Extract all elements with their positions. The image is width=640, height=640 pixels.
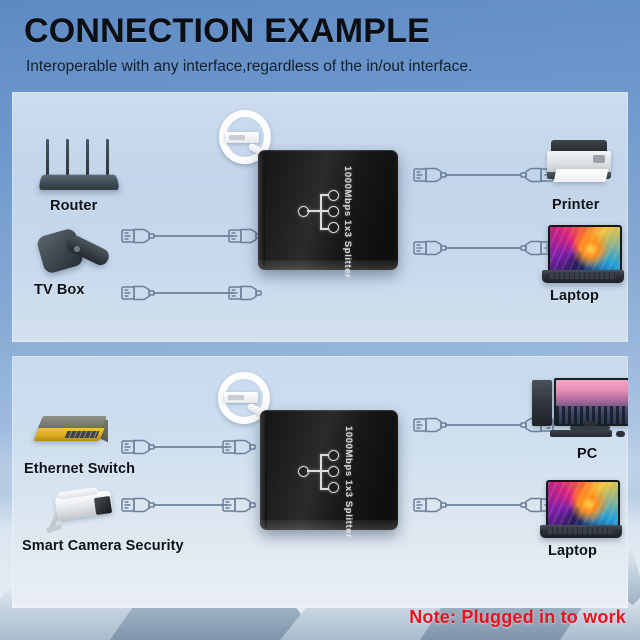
infographic-canvas: CONNECTION EXAMPLE Interoperable with an… [0, 0, 640, 640]
splitter-symbol-icon [298, 188, 348, 234]
connection-panel-top: Router TV Box [12, 92, 628, 342]
device-label-ethernet-switch: Ethernet Switch [24, 461, 135, 477]
rj45-connector-input-1b [221, 494, 259, 516]
laptop-icon [540, 480, 622, 540]
connection-wire [153, 235, 233, 237]
connection-wire [153, 504, 227, 506]
ethernet-switch-icon [36, 416, 110, 444]
note-text: Note: Plugged in to work [409, 607, 626, 628]
connection-wire [445, 247, 521, 249]
page-title: CONNECTION EXAMPLE [24, 14, 430, 48]
rj45-connector-input-1b [227, 282, 265, 304]
connection-wire [153, 446, 227, 448]
device-label-router: Router [50, 198, 97, 214]
connection-wire [153, 292, 233, 294]
device-label-smart-camera-security: Smart Camera Security [22, 538, 184, 554]
device-label-laptop: Laptop [550, 288, 599, 304]
header: CONNECTION EXAMPLE Interoperable with an… [0, 0, 640, 86]
device-label-pc: PC [577, 446, 597, 462]
printer-icon [547, 140, 611, 182]
device-label-laptop: Laptop [548, 543, 597, 559]
laptop-icon [542, 225, 624, 285]
splitter-symbol-icon [298, 448, 348, 494]
page-subtitle: Interoperable with any interface,regardl… [26, 58, 472, 76]
connection-wire [445, 424, 521, 426]
device-label-printer: Printer [552, 197, 599, 213]
tv-box-icon [40, 228, 118, 276]
desktop-pc-icon [532, 378, 628, 440]
device-label-tv-box: TV Box [34, 282, 85, 298]
connection-panel-bottom: Ethernet Switch Smart Camera Security [12, 356, 628, 608]
splitter-device-top: 1000Mbps 1x3 Splitter [258, 150, 398, 270]
security-camera-icon [48, 492, 120, 538]
router-icon [40, 134, 120, 190]
rj45-connector-input-0b [221, 436, 259, 458]
splitter-device-bottom: 1000Mbps 1x3 Splitter [260, 410, 398, 530]
connection-wire [445, 504, 521, 506]
connection-wire [445, 174, 521, 176]
